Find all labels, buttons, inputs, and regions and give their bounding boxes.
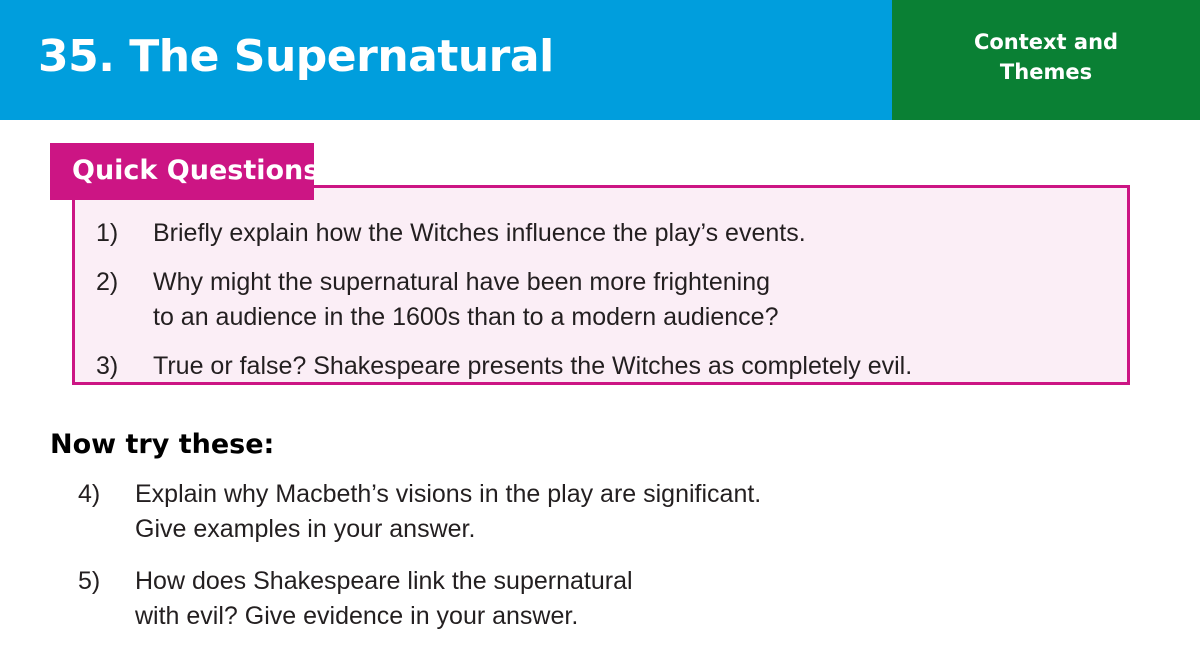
question-line-2: Give examples in your answer. (135, 512, 1088, 547)
question-text: How does Shakespeare link the supernatur… (135, 564, 1088, 634)
question-text: Briefly explain how the Witches influenc… (153, 216, 1106, 251)
list-item: 2) Why might the supernatural have been … (96, 265, 1106, 335)
list-item: 4) Explain why Macbeth’s visions in the … (78, 477, 1088, 547)
section-label-line1: Context and (892, 27, 1200, 57)
quick-questions-list: 1) Briefly explain how the Witches influ… (96, 216, 1106, 398)
now-try-these-heading: Now try these: (50, 428, 274, 462)
now-try-these-list: 4) Explain why Macbeth’s visions in the … (78, 477, 1088, 651)
quick-questions-tab: Quick Questions (50, 143, 314, 200)
question-line-1: True or false? Shakespeare presents the … (153, 352, 912, 380)
page-title: 35. The Supernatural (38, 28, 554, 86)
section-label: Context and Themes (892, 27, 1200, 87)
list-item: 1) Briefly explain how the Witches influ… (96, 216, 1106, 251)
question-number: 2) (96, 265, 153, 300)
question-text: True or false? Shakespeare presents the … (153, 349, 1106, 384)
question-line-1: Briefly explain how the Witches influenc… (153, 219, 806, 247)
quick-questions-tab-label: Quick Questions (50, 143, 314, 200)
question-line-1: How does Shakespeare link the supernatur… (135, 567, 633, 595)
question-text: Explain why Macbeth’s visions in the pla… (135, 477, 1088, 547)
section-label-line2: Themes (892, 57, 1200, 87)
question-text: Why might the supernatural have been mor… (153, 265, 1106, 335)
question-line-1: Explain why Macbeth’s visions in the pla… (135, 480, 761, 508)
question-number: 3) (96, 349, 153, 384)
question-line-1: Why might the supernatural have been mor… (153, 268, 770, 296)
question-line-2: to an audience in the 1600s than to a mo… (153, 300, 1106, 335)
list-item: 5) How does Shakespeare link the superna… (78, 564, 1088, 634)
list-item: 3) True or false? Shakespeare presents t… (96, 349, 1106, 384)
question-number: 4) (78, 477, 135, 512)
page-header: 35. The Supernatural Context and Themes (0, 0, 1200, 120)
question-line-2: with evil? Give evidence in your answer. (135, 599, 1088, 634)
question-number: 1) (96, 216, 153, 251)
question-number: 5) (78, 564, 135, 599)
